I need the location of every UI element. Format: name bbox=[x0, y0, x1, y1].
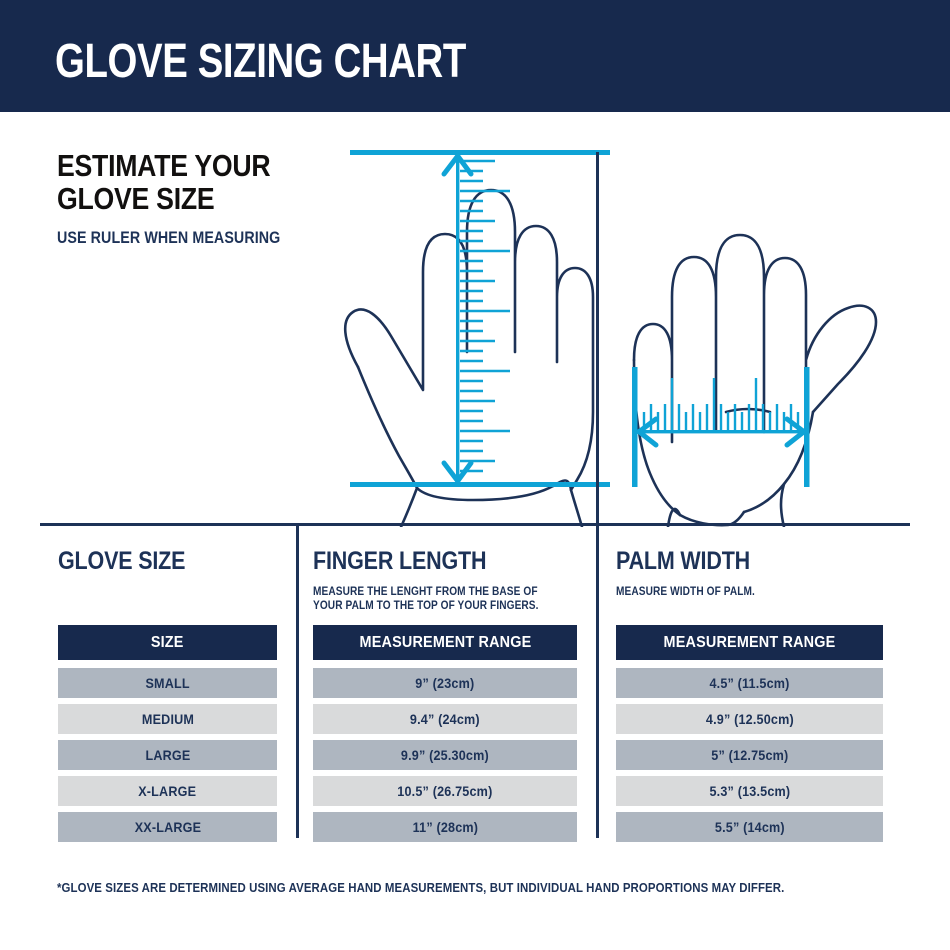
cell-value: MEDIUM bbox=[141, 711, 193, 727]
table-header-label: MEASUREMENT RANGE bbox=[359, 634, 531, 652]
cell-value: 9.9” (25.30cm) bbox=[401, 747, 489, 763]
table-header-label: MEASUREMENT RANGE bbox=[664, 634, 836, 652]
table-row: 9” (23cm) bbox=[313, 668, 577, 698]
column-subtitle-palm-width: MEASURE WIDTH OF PALM. bbox=[616, 585, 755, 599]
cell-value: 5.5” (14cm) bbox=[715, 819, 785, 835]
header-bar: GLOVE SIZING CHART bbox=[0, 0, 950, 112]
table-row: 10.5” (26.75cm) bbox=[313, 776, 577, 806]
table-header-cell: SIZE bbox=[58, 625, 277, 660]
table-finger-length: MEASUREMENT RANGE 9” (23cm) 9.4” (24cm) … bbox=[313, 625, 577, 848]
column-title-glove-size: GLOVE SIZE bbox=[58, 547, 185, 576]
column-divider-2 bbox=[596, 523, 599, 838]
ruler-ticks-horizontal bbox=[644, 378, 798, 430]
cell-value: 5.3” (13.5cm) bbox=[709, 783, 790, 799]
table-row: 5.3” (13.5cm) bbox=[616, 776, 883, 806]
finger-length-hand-diagram bbox=[295, 112, 625, 527]
hand-outline-right bbox=[634, 235, 876, 515]
table-row: X-LARGE bbox=[58, 776, 277, 806]
cell-value: 9” (23cm) bbox=[415, 675, 474, 691]
section-divider-horizontal bbox=[40, 523, 910, 526]
cell-value: SMALL bbox=[145, 675, 189, 691]
column-title-finger-length: FINGER LENGTH bbox=[313, 547, 486, 576]
cell-value: 5” (12.75cm) bbox=[711, 747, 788, 763]
measure-bound-left bbox=[632, 367, 638, 487]
footnote: *GLOVE SIZES ARE DETERMINED USING AVERAG… bbox=[57, 880, 784, 895]
table-row: 5” (12.75cm) bbox=[616, 740, 883, 770]
measure-bound-bottom bbox=[350, 482, 610, 487]
table-row: MEDIUM bbox=[58, 704, 277, 734]
cell-value: LARGE bbox=[145, 747, 190, 763]
cell-value: 4.9” (12.50cm) bbox=[706, 711, 794, 727]
column-divider-1 bbox=[296, 523, 299, 838]
cell-value: 4.5” (11.5cm) bbox=[709, 675, 789, 691]
table-row: 9.9” (25.30cm) bbox=[313, 740, 577, 770]
table-row: 5.5” (14cm) bbox=[616, 812, 883, 842]
glove-sizing-chart-page: GLOVE SIZING CHART ESTIMATE YOUR GLOVE S… bbox=[0, 0, 950, 950]
palm-width-hand-diagram bbox=[608, 112, 928, 527]
table-row: SMALL bbox=[58, 668, 277, 698]
measure-bound-right bbox=[804, 367, 810, 487]
cell-value: 9.4” (24cm) bbox=[410, 711, 480, 727]
table-row: 9.4” (24cm) bbox=[313, 704, 577, 734]
cell-value: 11” (28cm) bbox=[412, 819, 478, 835]
cell-value: 10.5” (26.75cm) bbox=[397, 783, 492, 799]
cell-value: XX-LARGE bbox=[134, 819, 201, 835]
column-subtitle-finger-length: MEASURE THE LENGHT FROM THE BASE OF YOUR… bbox=[313, 585, 539, 614]
hand-outline-left bbox=[345, 190, 593, 500]
table-row: 4.5” (11.5cm) bbox=[616, 668, 883, 698]
illustration-divider bbox=[596, 152, 599, 534]
illustration-area bbox=[0, 112, 950, 527]
table-header-label: SIZE bbox=[151, 634, 184, 652]
table-row: 11” (28cm) bbox=[313, 812, 577, 842]
table-glove-size: SIZE SMALL MEDIUM LARGE X-LARGE XX-LARGE bbox=[58, 625, 277, 848]
table-header-cell: MEASUREMENT RANGE bbox=[313, 625, 577, 660]
page-title: GLOVE SIZING CHART bbox=[55, 38, 466, 86]
table-row: 4.9” (12.50cm) bbox=[616, 704, 883, 734]
table-row: LARGE bbox=[58, 740, 277, 770]
column-title-palm-width: PALM WIDTH bbox=[616, 547, 750, 576]
table-palm-width: MEASUREMENT RANGE 4.5” (11.5cm) 4.9” (12… bbox=[616, 625, 883, 848]
cell-value: X-LARGE bbox=[139, 783, 197, 799]
table-row: XX-LARGE bbox=[58, 812, 277, 842]
measure-bound-top bbox=[350, 150, 610, 155]
table-header-cell: MEASUREMENT RANGE bbox=[616, 625, 883, 660]
